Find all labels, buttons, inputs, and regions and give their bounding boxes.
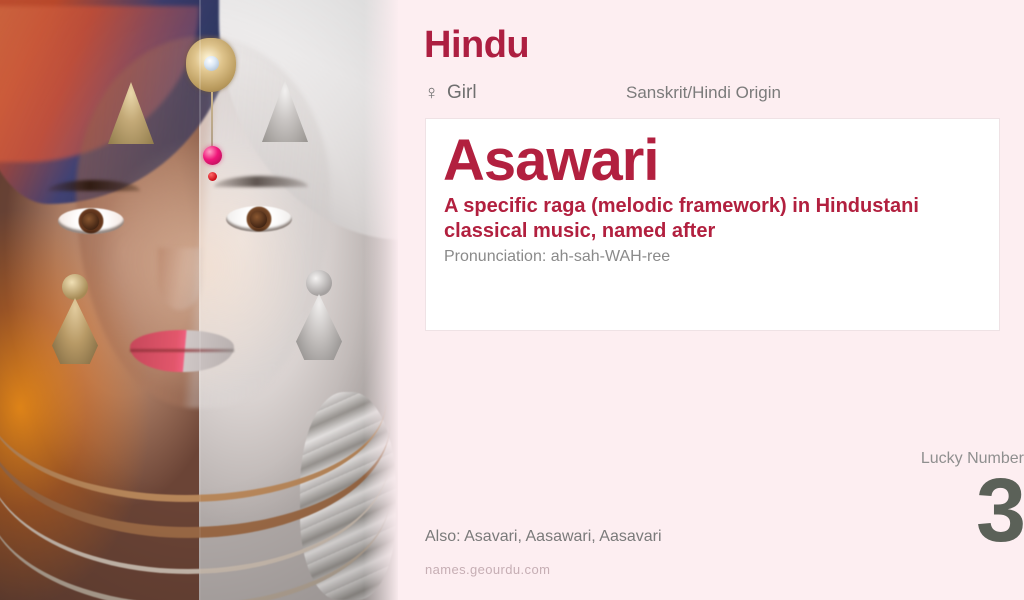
name-detail-card: Asawari A specific raga (melodic framewo…	[425, 118, 1000, 331]
name-meaning: A specific raga (melodic framework) in H…	[444, 194, 1000, 244]
alternate-spellings: Also: Asavari, Aasawari, Aasavari	[425, 528, 662, 546]
origin-label: Sanskrit/Hindi Origin	[626, 83, 781, 103]
lucky-number-block: Lucky Number 3	[764, 450, 1024, 553]
content-panel: Hindu ♀ Girl Sanskrit/Hindi Origin Asawa…	[424, 0, 1024, 600]
site-watermark: names.geourdu.com	[425, 562, 550, 577]
lucky-number-value: 3	[764, 470, 1024, 553]
right-edge-fade	[364, 0, 398, 600]
gender-text: Girl	[447, 82, 477, 104]
name-card-page: Hindu ♀ Girl Sanskrit/Hindi Origin Asawa…	[0, 0, 1024, 600]
pronunciation-text: Pronunciation: ah-sah-WAH-ree	[444, 248, 670, 266]
religion-title: Hindu	[424, 24, 529, 67]
name-heading: Asawari	[443, 131, 658, 192]
vignette	[0, 0, 398, 600]
gender-label: ♀ Girl	[424, 82, 477, 104]
venus-icon: ♀	[424, 83, 439, 103]
portrait-image	[0, 0, 398, 600]
name-meta-row: ♀ Girl Sanskrit/Hindi Origin	[424, 82, 1008, 106]
